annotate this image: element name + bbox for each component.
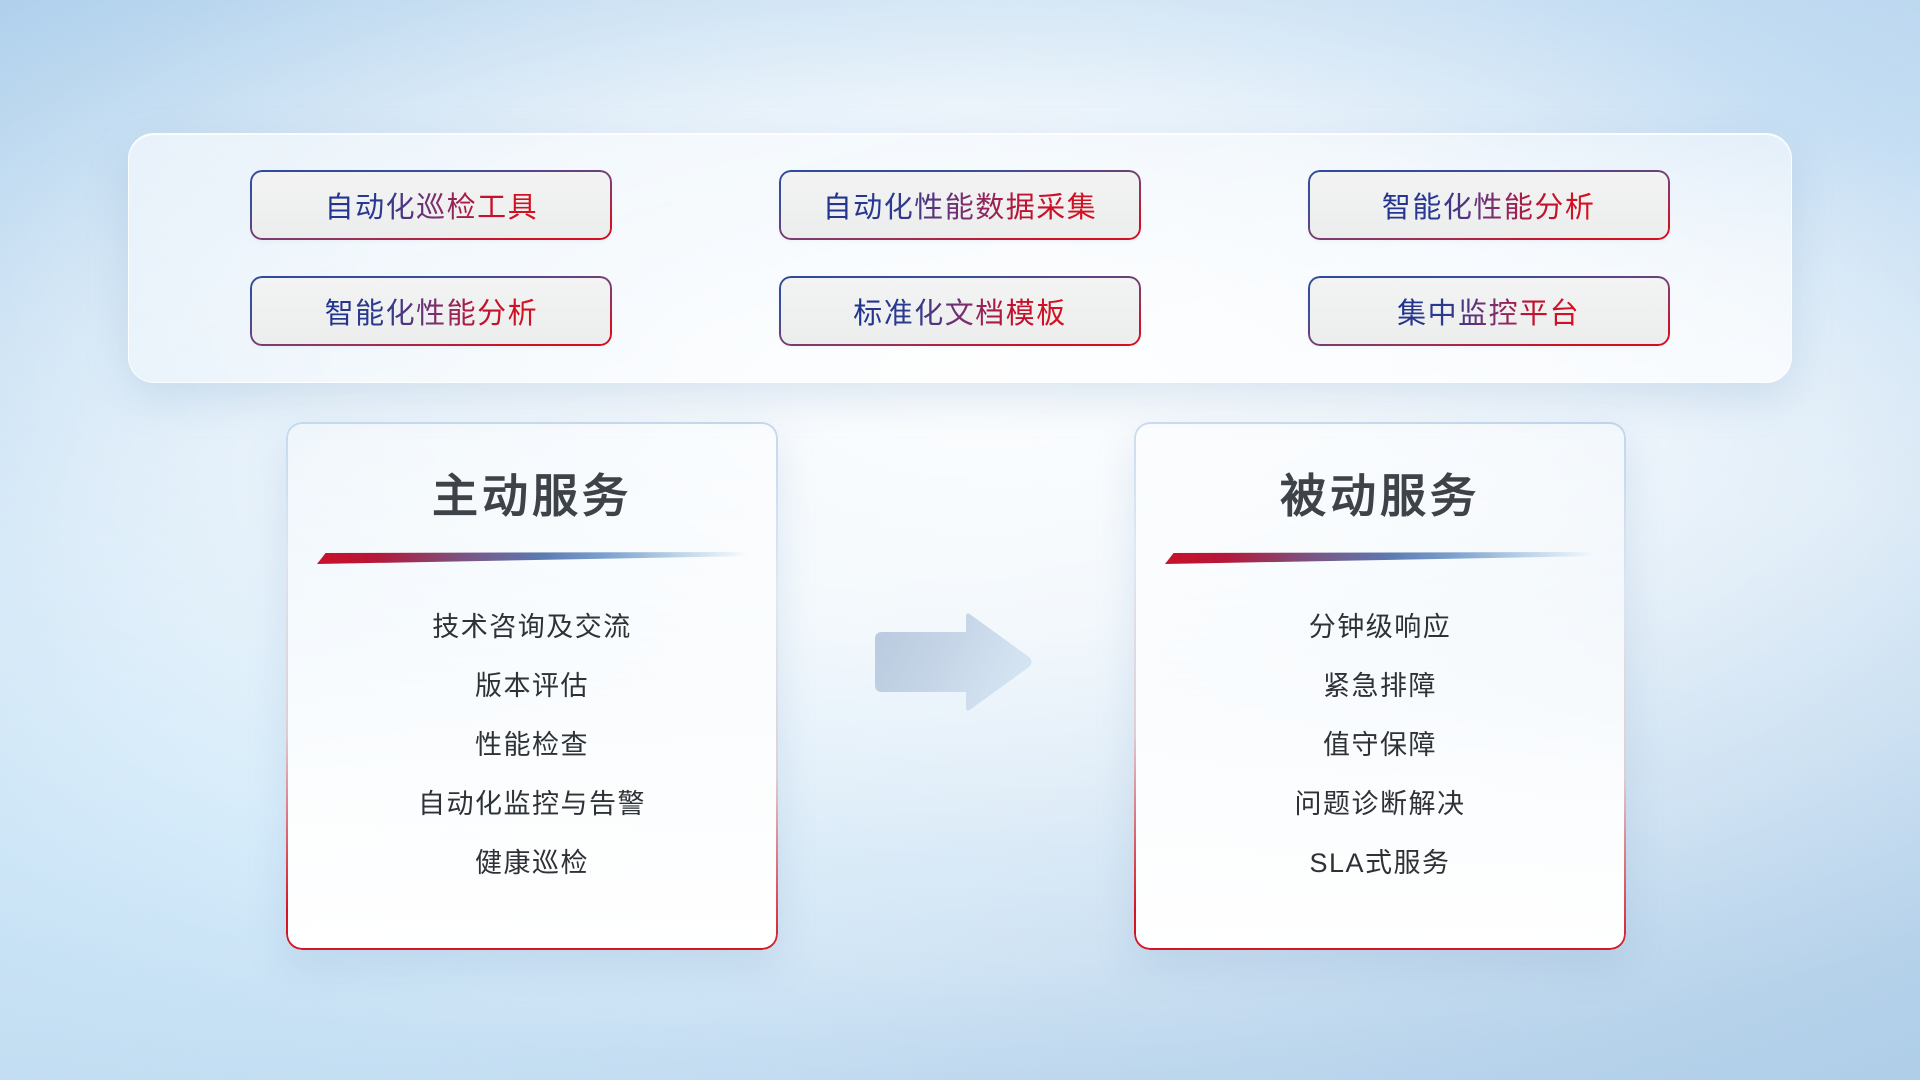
service-list-item: 问题诊断解决 [1295, 775, 1466, 834]
service-list-item: 自动化监控与告警 [418, 775, 646, 834]
service-list-item: 值守保障 [1323, 716, 1437, 775]
service-list-item: 技术咨询及交流 [432, 598, 632, 657]
capability-tag-panel: 自动化巡检工具 自动化性能数据采集 智能化性能分析 智能化性能分析 标准化文档模… [128, 133, 1792, 383]
capability-tag[interactable]: 标准化文档模板 [781, 278, 1139, 344]
title-underline-divider [317, 552, 747, 564]
arrow-right-icon [871, 613, 1034, 711]
service-list-item: SLA式服务 [1309, 834, 1450, 893]
capability-tag-label: 智能化性能分析 [1382, 184, 1596, 226]
service-list-item: 版本评估 [475, 657, 589, 716]
service-list-item: 健康巡检 [475, 834, 589, 893]
capability-tag-label: 集中监控平台 [1397, 290, 1580, 332]
capability-tag-label: 智能化性能分析 [325, 290, 539, 332]
service-card-title: 主动服务 [286, 422, 778, 526]
capability-tag[interactable]: 自动化性能数据采集 [781, 172, 1139, 238]
service-item-list: 分钟级响应 紧急排障 值守保障 问题诊断解决 SLA式服务 [1134, 564, 1626, 893]
service-card-active: 主动服务 技术咨询及交流 版本评估 性能检查 自动化监控与告警 健康巡检 [286, 422, 778, 950]
service-card-title: 被动服务 [1134, 422, 1626, 526]
service-list-item: 性能检查 [475, 716, 589, 775]
title-underline-divider [1165, 552, 1595, 564]
service-card-passive: 被动服务 分钟级响应 紧急排障 值守保障 问题诊断解决 SLA式服务 [1134, 422, 1626, 950]
capability-tag-label: 自动化性能数据采集 [823, 184, 1098, 226]
capability-tag[interactable]: 自动化巡检工具 [252, 172, 610, 238]
capability-tag-label: 自动化巡检工具 [325, 184, 539, 226]
capability-tag[interactable]: 智能化性能分析 [252, 278, 610, 344]
capability-tag[interactable]: 智能化性能分析 [1310, 172, 1668, 238]
slide-canvas: 自动化巡检工具 自动化性能数据采集 智能化性能分析 智能化性能分析 标准化文档模… [0, 0, 1920, 1080]
capability-tag-label: 标准化文档模板 [853, 290, 1067, 332]
service-item-list: 技术咨询及交流 版本评估 性能检查 自动化监控与告警 健康巡检 [286, 564, 778, 893]
service-list-item: 分钟级响应 [1309, 598, 1452, 657]
capability-tag[interactable]: 集中监控平台 [1310, 278, 1668, 344]
service-list-item: 紧急排障 [1323, 657, 1437, 716]
